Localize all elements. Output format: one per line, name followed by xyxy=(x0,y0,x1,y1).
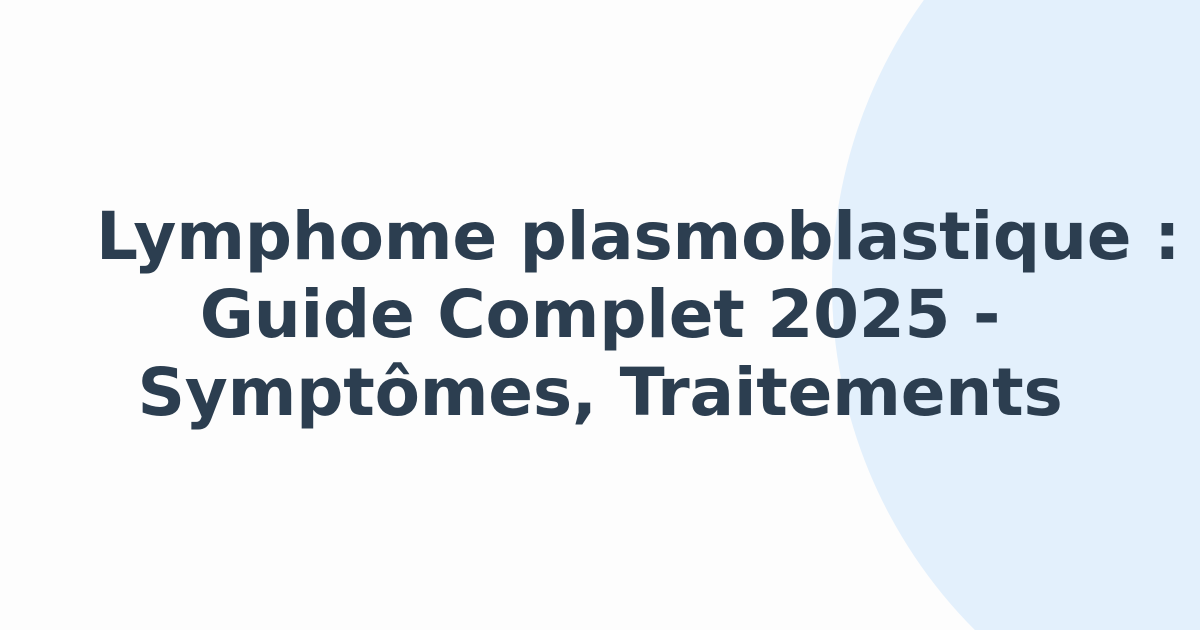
page-title-line-2: Guide Complet 2025 - xyxy=(96,276,1104,354)
page-title-line-1: Lymphome plasmoblastique : xyxy=(96,198,1104,276)
page-title-line-3: Symptômes, Traitements xyxy=(96,354,1104,432)
social-share-card: Lymphome plasmoblastique : Guide Complet… xyxy=(0,0,1200,630)
title-block: Lymphome plasmoblastique : Guide Complet… xyxy=(0,0,1200,630)
page-title: Lymphome plasmoblastique : Guide Complet… xyxy=(96,198,1104,432)
